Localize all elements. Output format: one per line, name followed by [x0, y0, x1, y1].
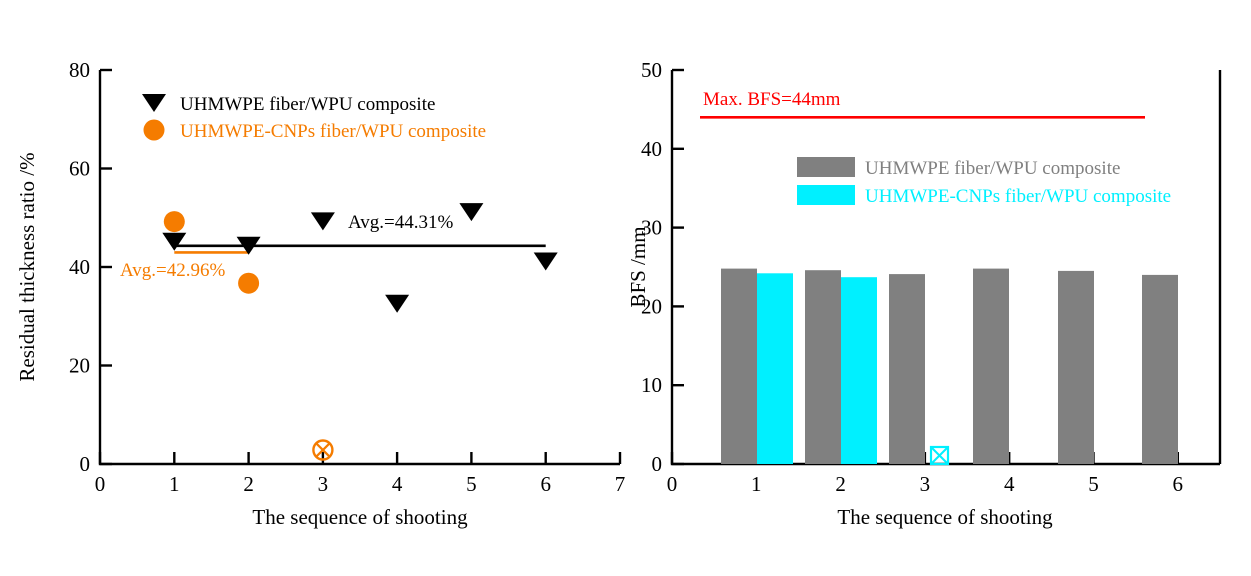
data-point-triangle-3 [311, 212, 335, 230]
y-tick-label-80: 80 [69, 58, 90, 82]
x-tick-label-5: 5 [1088, 472, 1099, 496]
y-tick-label-20: 20 [69, 354, 90, 378]
x-tick-label-7: 7 [615, 472, 625, 496]
bar-cyan-1 [757, 273, 793, 464]
avg-black-label: Avg.=44.31% [348, 212, 454, 233]
legend: UHMWPE fiber/WPU composite UHMWPE-CNPs f… [142, 94, 486, 142]
legend-label-uhmwpe: UHMWPE fiber/WPU composite [865, 158, 1120, 179]
legend-swatch-gray [797, 157, 855, 177]
legend-label-uhmwpe: UHMWPE fiber/WPU composite [180, 94, 435, 115]
x-tick-label-4: 4 [1004, 472, 1015, 496]
y-axis-ticks [672, 70, 684, 464]
bfs-plot: 0 10 20 30 40 50 0 1 2 3 4 5 6 [625, 0, 1251, 576]
bar-gray-1 [721, 269, 757, 464]
y-axis-title: BFS /mm [626, 226, 650, 307]
y-tick-label-40: 40 [69, 255, 90, 279]
x-tick-label-2: 2 [243, 472, 254, 496]
bar-gray-5 [1058, 271, 1094, 464]
x-axis-ticks [100, 452, 620, 464]
residual-thickness-panel: 0 20 40 60 80 0 1 2 3 4 5 6 7 [0, 0, 625, 576]
bar-gray-4 [973, 269, 1009, 464]
x-tick-label-1: 1 [751, 472, 762, 496]
x-tick-label-0: 0 [95, 472, 106, 496]
x-tick-label-3: 3 [920, 472, 931, 496]
bar-gray-6 [1142, 275, 1178, 464]
x-axis-title: The sequence of shooting [252, 505, 468, 529]
x-tick-label-0: 0 [667, 472, 678, 496]
x-tick-label-6: 6 [540, 472, 551, 496]
legend-label-uhmwpe-cnps: UHMWPE-CNPs fiber/WPU composite [180, 121, 486, 142]
y-tick-label-0: 0 [80, 452, 91, 476]
bar-gray-3 [889, 274, 925, 464]
data-point-triangle-1 [162, 233, 186, 251]
data-point-triangle-6 [534, 253, 558, 271]
x-tick-label-3: 3 [318, 472, 329, 496]
data-point-triangle-4 [385, 295, 409, 313]
data-point-circle-2 [238, 273, 259, 294]
legend: UHMWPE fiber/WPU composite UHMWPE-CNPs f… [797, 157, 1171, 207]
residual-thickness-plot: 0 20 40 60 80 0 1 2 3 4 5 6 7 [0, 0, 625, 576]
data-point-triangle-5 [459, 203, 483, 221]
y-tick-label-50: 50 [641, 58, 662, 82]
avg-orange-label: Avg.=42.96% [120, 260, 226, 281]
x-tick-label-2: 2 [835, 472, 846, 496]
bar-cyan-crossed-box-3 [931, 447, 948, 464]
legend-marker-triangle [142, 94, 166, 112]
x-tick-label-6: 6 [1173, 472, 1184, 496]
figure-root: 0 20 40 60 80 0 1 2 3 4 5 6 7 [0, 0, 1251, 576]
bar-gray-2 [805, 270, 841, 464]
y-tick-label-40: 40 [641, 137, 662, 161]
x-tick-label-1: 1 [169, 472, 180, 496]
legend-label-uhmwpe-cnps: UHMWPE-CNPs fiber/WPU composite [865, 186, 1171, 207]
x-axis-title: The sequence of shooting [837, 505, 1053, 529]
legend-marker-circle [144, 120, 165, 141]
y-tick-label-60: 60 [69, 157, 90, 181]
y-axis-title: Residual thickness ratio /% [15, 152, 39, 381]
legend-swatch-cyan [797, 185, 855, 205]
bfs-panel: 0 10 20 30 40 50 0 1 2 3 4 5 6 [625, 0, 1251, 576]
y-tick-label-10: 10 [641, 373, 662, 397]
bar-cyan-2 [841, 277, 877, 464]
max-bfs-label: Max. BFS=44mm [703, 89, 841, 110]
y-tick-label-0: 0 [652, 452, 663, 476]
data-point-circle-1 [164, 211, 185, 232]
x-tick-label-4: 4 [392, 472, 403, 496]
y-axis-ticks [100, 70, 112, 464]
x-tick-label-5: 5 [466, 472, 477, 496]
